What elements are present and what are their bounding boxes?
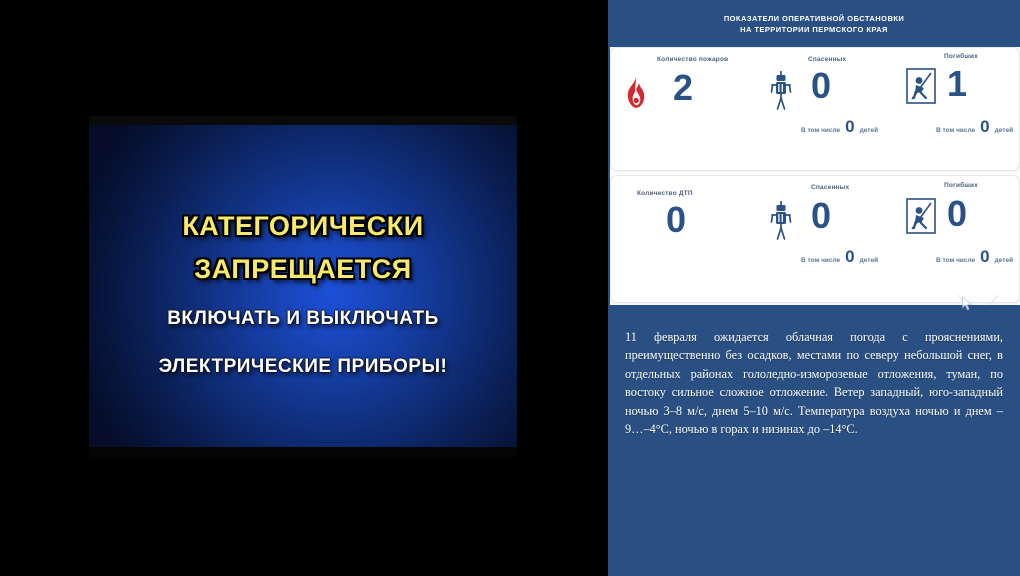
video-headline-2: ЗАПРЕЩАЕТСЯ bbox=[89, 254, 517, 285]
metric-label-casualties: Погибших bbox=[944, 53, 978, 60]
metric-label-dtp: Количество ДТП bbox=[637, 190, 693, 197]
card-road-accidents: Количество ДТП 0 bbox=[610, 175, 1020, 303]
video-headline-1: КАТЕГОРИЧЕСКИ bbox=[89, 211, 517, 242]
rescuer-icon bbox=[768, 71, 794, 116]
casualty-icon bbox=[906, 198, 936, 239]
sub-value: 0 bbox=[975, 118, 994, 135]
mouse-cursor bbox=[962, 296, 973, 312]
weather-panel: 11 февраля ожидается облачная погода с п… bbox=[608, 305, 1020, 576]
dashboard-title-line-2: НА ТЕРРИТОРИИ ПЕРМСКОГО КРАЯ bbox=[740, 24, 888, 35]
metric-sub-casualties-children: В том числе 0 детей bbox=[936, 118, 1013, 135]
sub-suffix: детей bbox=[860, 127, 878, 134]
sub-prefix: В том числе bbox=[801, 127, 840, 134]
video-subline-2: ЭЛЕКТРИЧЕСКИЕ ПРИБОРЫ! bbox=[89, 356, 517, 378]
card-fires: Количество пожаров 2 bbox=[610, 47, 1020, 171]
metric-value-rescued: 0 bbox=[811, 68, 831, 104]
video-panel[interactable]: КАТЕГОРИЧЕСКИ ЗАПРЕЩАЕТСЯ ВКЛЮЧАТЬ И ВЫК… bbox=[0, 0, 608, 576]
metric-sub-rescued-children: В том числе 0 детей bbox=[801, 248, 878, 265]
sub-value: 0 bbox=[975, 248, 994, 265]
dashboard-header: ПОКАЗАТЕЛИ ОПЕРАТИВНОЙ ОБСТАНОВКИ НА ТЕР… bbox=[608, 0, 1020, 47]
video-frame[interactable]: КАТЕГОРИЧЕСКИ ЗАПРЕЩАЕТСЯ ВКЛЮЧАТЬ И ВЫК… bbox=[89, 116, 517, 457]
screen: КАТЕГОРИЧЕСКИ ЗАПРЕЩАЕТСЯ ВКЛЮЧАТЬ И ВЫК… bbox=[0, 0, 1020, 576]
sub-prefix: В том числе bbox=[936, 127, 975, 134]
sub-prefix: В том числе bbox=[936, 257, 975, 264]
metric-value-casualties: 0 bbox=[947, 196, 967, 232]
metric-value-rescued: 0 bbox=[811, 198, 831, 234]
metrics-cards-area: Количество пожаров 2 bbox=[610, 47, 1020, 305]
metric-value-fires: 2 bbox=[673, 70, 693, 106]
metric-sub-rescued-children: В том числе 0 детей bbox=[801, 118, 878, 135]
weather-forecast-text: 11 февраля ожидается облачная погода с п… bbox=[625, 328, 1003, 438]
metric-label-rescued: Спасенных bbox=[811, 184, 849, 191]
metric-sub-casualties-children: В том числе 0 детей bbox=[936, 248, 1013, 265]
casualty-icon bbox=[906, 68, 936, 109]
metric-value-dtp: 0 bbox=[666, 202, 686, 238]
flame-icon bbox=[623, 76, 649, 115]
metric-value-casualties: 1 bbox=[947, 66, 967, 102]
video-subline-1: ВКЛЮЧАТЬ И ВЫКЛЮЧАТЬ bbox=[89, 308, 517, 330]
dashboard-title-line-1: ПОКАЗАТЕЛИ ОПЕРАТИВНОЙ ОБСТАНОВКИ bbox=[724, 13, 904, 24]
sub-value: 0 bbox=[840, 248, 859, 265]
sub-suffix: детей bbox=[860, 257, 878, 264]
sub-suffix: детей bbox=[995, 257, 1013, 264]
metric-label-casualties: Погибших bbox=[944, 182, 978, 189]
metric-label-rescued: Спасенных bbox=[808, 56, 846, 63]
rescuer-icon bbox=[768, 201, 794, 246]
sub-suffix: детей bbox=[995, 127, 1013, 134]
sub-value: 0 bbox=[840, 118, 859, 135]
sub-prefix: В том числе bbox=[801, 257, 840, 264]
metric-label-fires: Количество пожаров bbox=[657, 56, 728, 63]
